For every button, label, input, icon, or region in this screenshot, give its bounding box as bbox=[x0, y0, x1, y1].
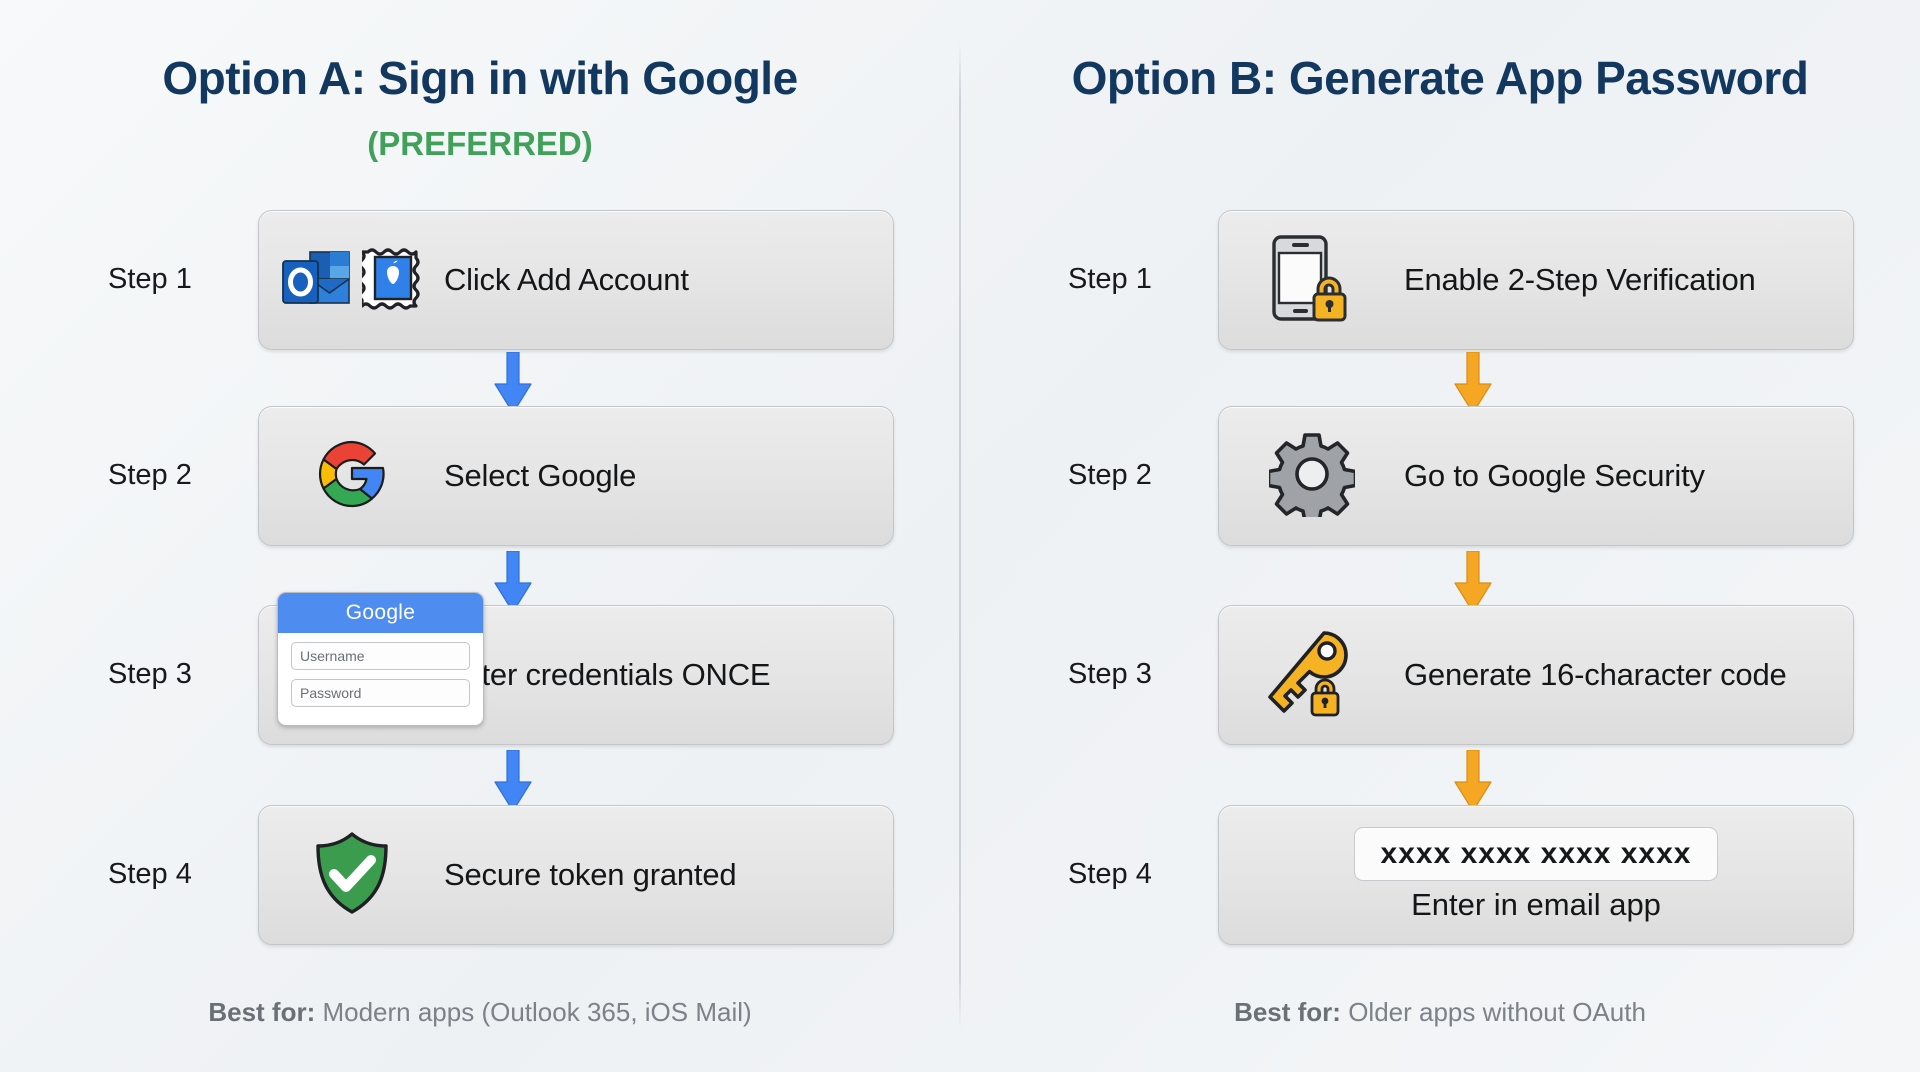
option-b-footer-text: Older apps without OAuth bbox=[1348, 997, 1646, 1027]
option-a-footer-text: Modern apps (Outlook 365, iOS Mail) bbox=[322, 997, 751, 1027]
option-a-step-2-text: Select Google bbox=[444, 458, 636, 494]
option-a-step-2-icons bbox=[259, 407, 444, 545]
option-a-arrow-1 bbox=[490, 352, 536, 414]
option-b-step-3-label: Step 3 bbox=[1068, 605, 1218, 743]
option-b-step-3-text: Generate 16-character code bbox=[1404, 657, 1787, 693]
option-a-step-1-text: Click Add Account bbox=[444, 262, 689, 298]
option-b-step-3-icons bbox=[1219, 606, 1404, 744]
google-login-card-icon: Google Username Password bbox=[277, 592, 484, 726]
option-a-step-4-text: Secure token granted bbox=[444, 857, 736, 893]
option-b-arrow-2 bbox=[1450, 551, 1496, 613]
password-field[interactable]: Password bbox=[291, 679, 470, 707]
username-field[interactable]: Username bbox=[291, 642, 470, 670]
option-a-step-4-card[interactable]: Secure token granted bbox=[258, 805, 894, 945]
option-a-step-3-label: Step 3 bbox=[108, 605, 258, 743]
option-b-step-1-row: Step 1 bbox=[1068, 210, 1852, 348]
apple-mail-stamp-icon bbox=[362, 244, 424, 317]
google-g-logo-icon bbox=[312, 434, 392, 519]
green-shield-check-icon bbox=[311, 829, 393, 922]
option-a-column: Option A: Sign in with Google (PREFERRED… bbox=[0, 0, 960, 1072]
option-b-step-2-label: Step 2 bbox=[1068, 406, 1218, 544]
option-a-step-3-icons: Google Username Password bbox=[259, 606, 444, 744]
option-b-footer-label: Best for: bbox=[1234, 997, 1341, 1027]
option-b-step-4-label: Step 4 bbox=[1068, 805, 1218, 943]
option-b-arrow-3 bbox=[1450, 750, 1496, 812]
option-a-arrow-3 bbox=[490, 750, 536, 812]
option-b-step-1-label: Step 1 bbox=[1068, 210, 1218, 348]
option-a-footer: Best for: Modern apps (Outlook 365, iOS … bbox=[0, 997, 960, 1028]
option-a-arrow-2 bbox=[490, 551, 536, 613]
option-b-arrow-1 bbox=[1450, 352, 1496, 414]
option-b-step-2-text: Go to Google Security bbox=[1404, 458, 1705, 494]
option-b-step-2-icons bbox=[1219, 407, 1404, 545]
app-password-caption: Enter in email app bbox=[1411, 887, 1661, 923]
option-b-step-1-text: Enable 2-Step Verification bbox=[1404, 262, 1756, 298]
option-b-step-3-card[interactable]: Generate 16-character code bbox=[1218, 605, 1854, 745]
option-a-step-4-label: Step 4 bbox=[108, 805, 258, 943]
option-a-step-1-icons bbox=[259, 211, 444, 349]
option-a-step-1-card[interactable]: Click Add Account bbox=[258, 210, 894, 350]
option-b-step-2-row: Step 2 Go to Google Security bbox=[1068, 406, 1852, 544]
option-a-step-2-label: Step 2 bbox=[108, 406, 258, 544]
option-a-step-3-row: Step 3 Google Username Password Enter cr… bbox=[108, 605, 892, 743]
option-a-step-2-row: Step 2 Select Google bbox=[108, 406, 892, 544]
option-a-step-2-card[interactable]: Select Google bbox=[258, 406, 894, 546]
google-login-header: Google bbox=[278, 593, 483, 633]
option-a-step-1-label: Step 1 bbox=[108, 210, 258, 348]
phone-lock-icon bbox=[1266, 233, 1358, 328]
option-b-title: Option B: Generate App Password bbox=[960, 55, 1920, 101]
option-a-footer-label: Best for: bbox=[208, 997, 315, 1027]
option-b-step-1-icons bbox=[1219, 211, 1404, 349]
infographic-canvas: Option A: Sign in with Google (PREFERRED… bbox=[0, 0, 1920, 1072]
option-a-step-4-row: Step 4 Secure token granted bbox=[108, 805, 892, 943]
option-a-step-3-card[interactable]: Google Username Password Enter credentia… bbox=[258, 605, 894, 745]
option-a-step-3-text: Enter credentials ONCE bbox=[444, 657, 770, 693]
app-password-code-box: xxxx xxxx xxxx xxxx bbox=[1354, 827, 1719, 881]
option-b-step-1-card[interactable]: Enable 2-Step Verification bbox=[1218, 210, 1854, 350]
gear-icon bbox=[1269, 431, 1355, 522]
option-a-step-1-row: Step 1 bbox=[108, 210, 892, 348]
option-a-step-4-icons bbox=[259, 806, 444, 944]
option-b-step-3-row: Step 3 Generate 16-character bbox=[1068, 605, 1852, 743]
option-a-title: Option A: Sign in with Google bbox=[0, 55, 960, 101]
option-b-step-2-card[interactable]: Go to Google Security bbox=[1218, 406, 1854, 546]
outlook-icon bbox=[280, 248, 352, 313]
key-lock-icon bbox=[1262, 627, 1362, 724]
option-b-step-4-card[interactable]: xxxx xxxx xxxx xxxx Enter in email app bbox=[1218, 805, 1854, 945]
option-b-footer: Best for: Older apps without OAuth bbox=[960, 997, 1920, 1028]
option-a-subtitle: (PREFERRED) bbox=[0, 125, 960, 163]
option-b-step-4-row: Step 4 xxxx xxxx xxxx xxxx Enter in emai… bbox=[1068, 805, 1852, 943]
option-b-column: Option B: Generate App Password Step 1 bbox=[960, 0, 1920, 1072]
